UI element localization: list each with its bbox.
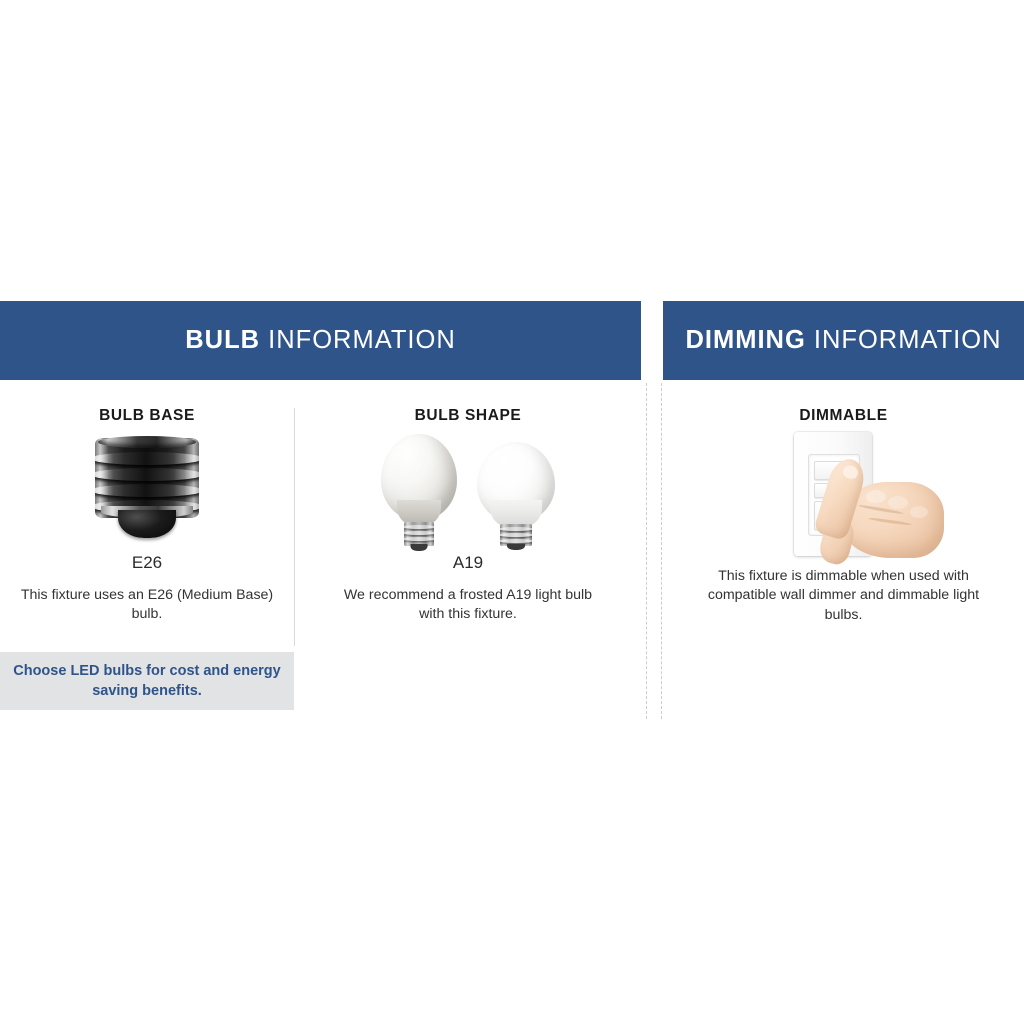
dimming-information-body: DIMMABLE (663, 380, 1024, 719)
led-bulb-callout: Choose LED bulbs for cost and energy sav… (0, 652, 294, 710)
bulb-base-column: BULB BASE E26 This fixture uses an E26 (… (0, 380, 294, 625)
bulb-information-header-bold: BULB (185, 326, 260, 354)
bulb-base-thread (404, 531, 434, 535)
hand-pressing-dimmer-icon (814, 456, 944, 558)
dimming-information-panel: DIMMING INFORMATION DIMMABLE (663, 301, 1024, 719)
bulb-base-thread (500, 539, 532, 543)
dimming-information-header-bold: DIMMING (685, 326, 805, 354)
e26-thread-ring (95, 468, 199, 481)
bulb-shape-art (295, 434, 641, 552)
e26-base-icon (92, 438, 202, 542)
a19-led-bulb-icon (473, 442, 559, 550)
bulb-screw-base (404, 522, 434, 546)
bulb-information-header-text: BULB INFORMATION (185, 326, 456, 355)
hand-knuckle (866, 490, 886, 503)
bulb-base-thread (404, 537, 434, 541)
bulb-shape-column: BULB SHAPE (295, 380, 641, 625)
bulb-base-tip (507, 544, 525, 550)
dimmable-description: This fixture is dimmable when used with … (699, 567, 989, 626)
dimmable-art (663, 434, 1024, 552)
bulb-base-tip (411, 544, 428, 551)
e26-thread-ring (95, 484, 199, 497)
bulb-base-thread (404, 525, 434, 529)
a19-bulbs-icon (373, 434, 563, 550)
dimmable-column: DIMMABLE (663, 380, 1024, 625)
e26-base-tip (118, 510, 176, 538)
bulb-information-header-rest: INFORMATION (260, 326, 456, 354)
dimmable-title: DIMMABLE (663, 408, 1024, 424)
bulb-base-art (0, 434, 294, 552)
panel-dashed-separator-right (661, 383, 662, 719)
wall-dimmer-switch-icon (744, 432, 944, 558)
hand-knuckle (888, 496, 908, 509)
hand-knuckle (910, 506, 928, 518)
bulb-screw-base (500, 524, 532, 546)
bulb-shape-description: We recommend a frosted A19 light bulb wi… (333, 586, 603, 625)
bulb-base-thread (500, 527, 532, 531)
bulb-base-description: This fixture uses an E26 (Medium Base) b… (17, 586, 277, 625)
led-bulb-callout-text: Choose LED bulbs for cost and energy sav… (0, 661, 294, 701)
e26-base-top-rim (98, 436, 196, 448)
dimming-information-header-rest: INFORMATION (806, 326, 1002, 354)
bulb-base-spec: E26 (0, 554, 294, 571)
panel-dashed-separator-left (646, 383, 647, 719)
dimming-information-header: DIMMING INFORMATION (663, 301, 1024, 380)
bulb-base-thread (500, 533, 532, 537)
e26-thread-ring (95, 452, 199, 465)
bulb-base-title: BULB BASE (0, 408, 294, 424)
bulb-shape-spec: A19 (295, 554, 641, 571)
bulb-shape-title: BULB SHAPE (295, 408, 641, 424)
a19-frosted-incandescent-bulb-icon (377, 434, 461, 550)
fingernail (841, 463, 859, 480)
dimming-information-header-text: DIMMING INFORMATION (685, 326, 1001, 355)
bulb-information-header: BULB INFORMATION (0, 301, 641, 380)
